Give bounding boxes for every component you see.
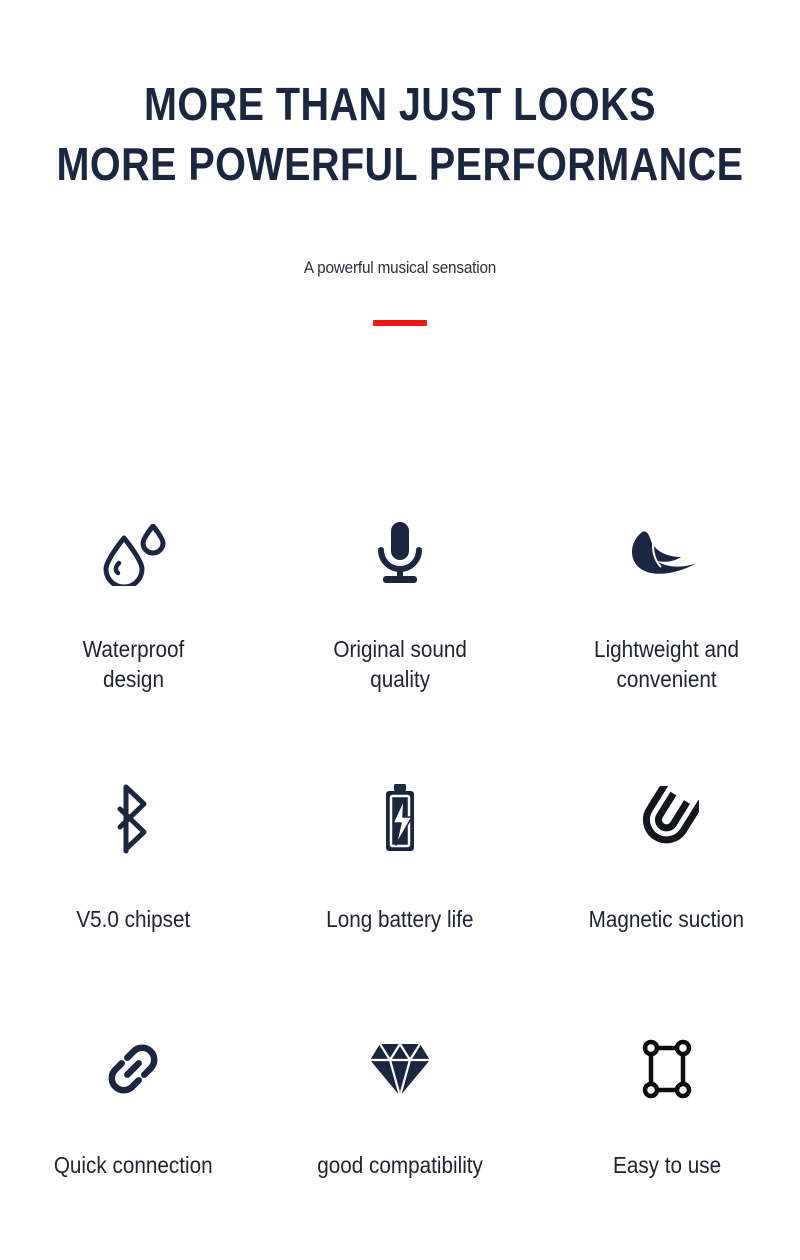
feature-item-easy-to-use: Easy to use [533,1032,800,1212]
feature-row: V5.0 chipset Long battery life [0,780,800,1032]
feature-label: Lightweight and convenient [594,634,739,694]
water-drop-icon [98,512,168,598]
feature-item-v5-chipset: V5.0 chipset [0,780,267,1032]
diamond-icon [368,1032,432,1106]
divider-container [0,320,800,326]
feature-item-lightweight-and-convenient: Lightweight and convenient [533,512,800,780]
feature-row: Waterproof design Original sound quality [0,512,800,780]
feature-row: Quick connection good compatibility [0,1032,800,1212]
feature-label-line-1: Quick connection [54,1150,213,1180]
feather-icon [627,512,707,598]
page-subtitle: A powerful musical sensation [40,258,760,278]
feature-item-long-battery-life: Long battery life [267,780,534,1032]
feature-label-line-1: good compatibility [317,1150,483,1180]
feature-item-original-sound-quality: Original sound quality [267,512,534,780]
feature-label-line-1: Magnetic suction [589,904,744,934]
feature-label-line-2: design [83,664,185,694]
feature-label-line-1: Long battery life [326,904,473,934]
feature-label-line-1: Easy to use [613,1150,721,1180]
battery-charging-icon [378,780,422,858]
microphone-icon [369,512,431,598]
accent-divider [373,320,427,326]
feature-label-line-1: V5.0 chipset [76,904,190,934]
chain-link-icon [104,1032,162,1106]
feature-item-good-compatibility: good compatibility [267,1032,534,1212]
feature-item-magnetic-suction: Magnetic suction [533,780,800,1032]
page-title-line-1: MORE THAN JUST LOOKS [56,74,744,134]
feature-item-quick-connection: Quick connection [0,1032,267,1212]
feature-label: Waterproof design [83,634,185,694]
page-title-line-2: MORE POWERFUL PERFORMANCE [56,134,744,194]
feature-label: good compatibility [317,1150,483,1180]
bluetooth-icon [110,780,156,858]
feature-grid: Waterproof design Original sound quality [0,512,800,1212]
feature-label: Long battery life [326,904,473,934]
feature-label-line-2: convenient [594,664,739,694]
magnet-icon [635,780,699,858]
feature-label-line-1: Lightweight and [594,634,739,664]
page-header: MORE THAN JUST LOOKS MORE POWERFUL PERFO… [0,0,800,326]
feature-label-line-1: Original sound [333,634,466,664]
feature-label: Quick connection [54,1150,213,1180]
feature-label: Original sound quality [333,634,466,694]
feature-label: V5.0 chipset [76,904,190,934]
feature-label-line-2: quality [333,664,466,694]
feature-label-line-1: Waterproof [83,634,185,664]
feature-item-waterproof-design: Waterproof design [0,512,267,780]
feature-label: Magnetic suction [589,904,744,934]
feature-label: Easy to use [613,1150,721,1180]
square-nodes-icon [639,1032,695,1106]
